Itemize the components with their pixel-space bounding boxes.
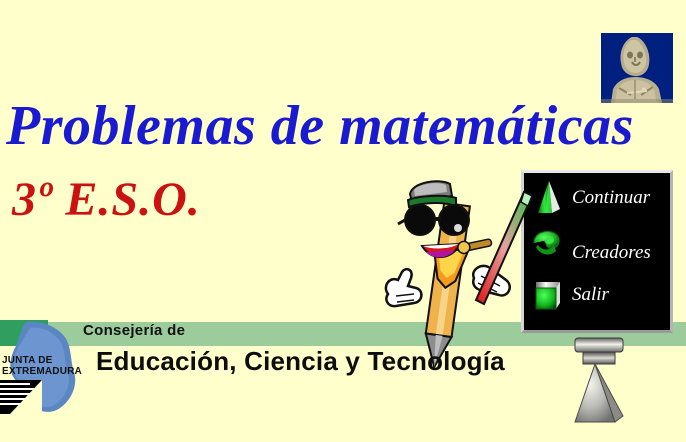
footer-line-consejeria: Consejería de [83,322,185,339]
menu-item-salir-label: Salir [572,284,609,306]
application-splash-screen: Problemas de matemáticas 3º E.S.O. [0,0,686,442]
page-title: Problemas de matemáticas [6,98,634,154]
logo-text-line1: JUNTA DE [2,355,82,366]
menu-panel-inner: Continuar Creadores [524,173,670,330]
footer-line-educacion: Educación, Ciencia y Tecnología [96,346,505,377]
menu-item-continuar-label: Continuar [572,187,650,209]
logo-text: JUNTA DE EXTREMADURA [2,355,82,377]
menu-panel: Continuar Creadores [521,170,673,333]
statue-photo [601,33,673,103]
menu-item-continuar[interactable]: Continuar [532,179,650,217]
stone-statue-image [601,33,673,103]
menu-item-creadores-label: Creadores [572,242,651,264]
menu-item-creadores[interactable]: Creadores [528,227,651,265]
logo-text-line2: EXTREMADURA [2,366,82,377]
page-subtitle: 3º E.S.O. [12,176,201,224]
pedestal-stand [563,336,635,436]
metal-stand-icon [563,336,635,436]
menu-item-salir[interactable]: Salir [532,276,609,314]
